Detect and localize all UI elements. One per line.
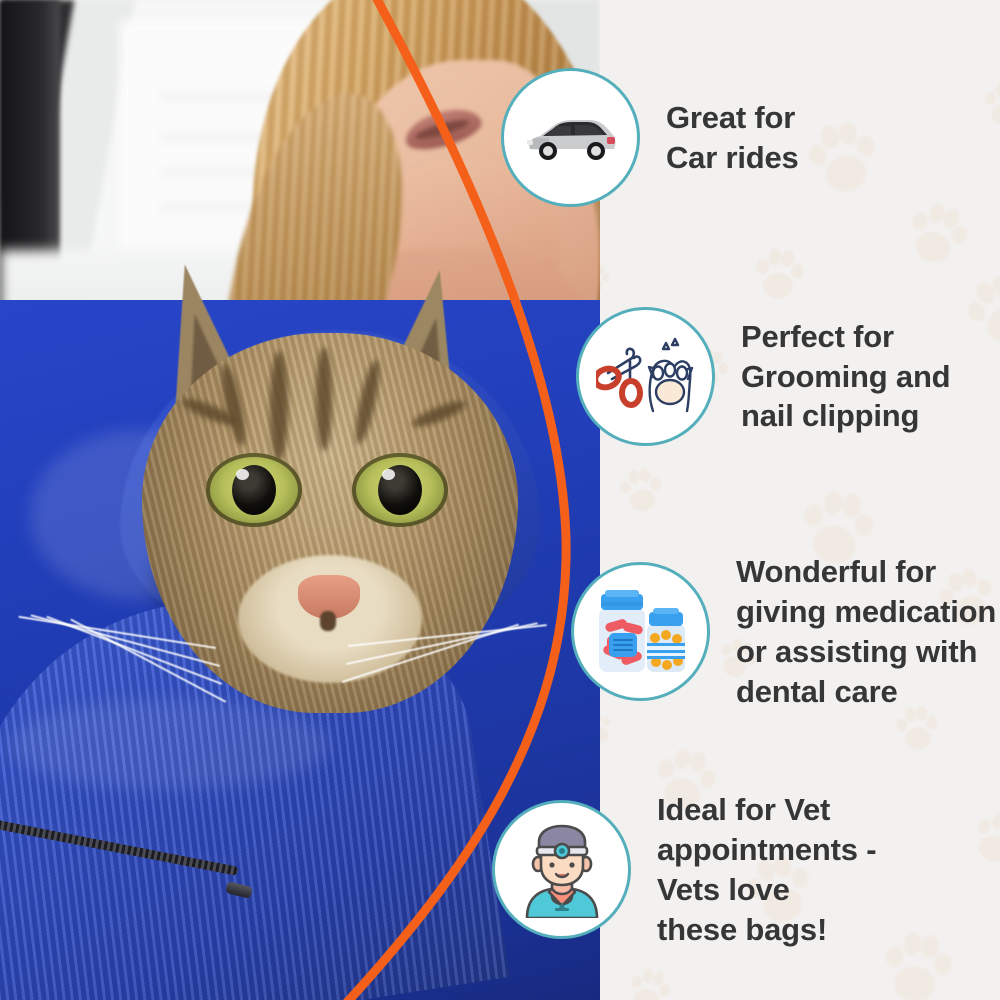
feature-row-medication: Wonderful for giving medication or assis… (571, 552, 996, 712)
veterinarian-icon-circle (492, 800, 631, 939)
car-icon (523, 109, 619, 167)
feature-row-vet: Ideal for Vet appointments - Vets love t… (492, 790, 876, 950)
paw-print-icon (875, 925, 959, 1000)
feature-label-grooming: Perfect for Grooming and nail clipping (741, 317, 950, 437)
medicine-bottles-icon-circle (571, 562, 710, 701)
paw-print-icon (799, 113, 888, 205)
feature-label-medication: Wonderful for giving medication or assis… (736, 552, 996, 712)
car-icon-circle (501, 68, 640, 207)
nail-clipper-paw-icon-circle (576, 307, 715, 446)
feature-label-car: Great for Car rides (666, 98, 799, 178)
feature-label-vet: Ideal for Vet appointments - Vets love t… (657, 790, 876, 950)
feature-row-grooming: Perfect for Grooming and nail clipping (576, 307, 950, 446)
veterinarian-icon (515, 822, 609, 918)
feature-row-car: Great for Car rides (501, 68, 799, 207)
infographic-canvas: Great for Car rides (0, 0, 1000, 1000)
paw-print-icon (750, 244, 809, 305)
paw-print-icon (615, 464, 667, 518)
paw-print-icon (980, 79, 1000, 130)
nail-clipper-paw-icon (596, 335, 696, 419)
medicine-bottles-icon (589, 586, 693, 678)
